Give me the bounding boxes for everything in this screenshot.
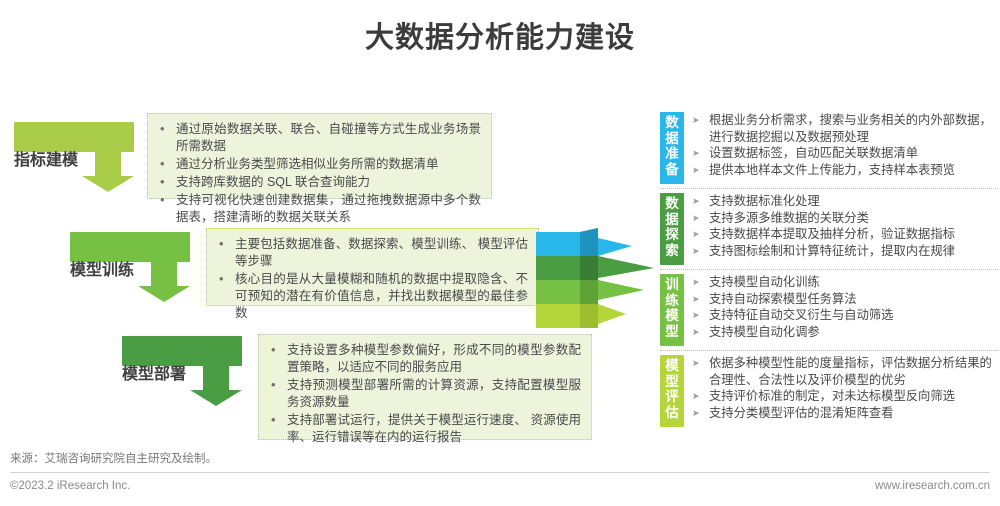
flow-textbox-1-list: 通过原始数据关联、联合、自碰撞等方式生成业务场景所需数据 通过分析业务类型筛选相…: [156, 121, 481, 226]
list-item: 支持数据样本提取及抽样分析，验证数据指标: [692, 226, 998, 243]
list-item: 支持部署试运行，提供关于模型运行速度、 资源使用率、运行错误等在内的运行报告: [267, 412, 581, 446]
flow-arrow-3-head: [190, 390, 242, 406]
flow-textbox-3-list: 支持设置多种模型参数偏好，形成不同的模型参数配置策略，以适应不同的服务应用 支持…: [267, 342, 581, 446]
list-item: 支持评价标准的制定，对未达标模型反向筛选: [692, 388, 998, 405]
flow-arrow-1-stem: [95, 152, 121, 176]
capability-section-model-evaluation: 模型评估 依据多种模型性能的度量指标，评估数据分析结果的合理性、合法性以及评价模…: [660, 355, 998, 427]
tag-char: 数据准备: [660, 115, 684, 177]
capability-body-data-preparation: 根据业务分析需求，搜索与业务相关的内外部数据，进行数据挖掘以及数据预处理 设置数…: [684, 112, 998, 178]
list-item: 支持设置多种模型参数偏好，形成不同的模型参数配置策略，以适应不同的服务应用: [267, 342, 581, 376]
flow-label-3: 模型部署: [122, 360, 186, 384]
list-item: 支持图标绘制和计算特征统计，提取内在规律: [692, 243, 998, 260]
flow-label-2: 模型训练: [70, 256, 134, 280]
flow-textbox-2: 主要包括数据准备、数据探索、模型训练、 模型评估等步骤 核心目的是从大量模糊和随…: [206, 228, 539, 306]
capability-list-2: 支持数据标准化处理 支持多源多维数据的关联分类 支持数据样本提取及抽样分析，验证…: [692, 193, 998, 259]
list-item: 核心目的是从大量模糊和随机的数据中提取隐含、不可预知的潜在有价值信息，并找出数据…: [215, 271, 528, 322]
flow-textbox-1: 通过原始数据关联、联合、自碰撞等方式生成业务场景所需数据 通过分析业务类型筛选相…: [147, 113, 492, 199]
capability-tag-model-training: 训练模型: [660, 274, 684, 346]
flow-label-1: 指标建模: [14, 146, 78, 170]
footer-divider: [10, 472, 990, 473]
list-item: 支持可视化快速创建数据集，通过拖拽数据源中多个数据表，搭建清晰的数据关联关系: [156, 192, 481, 226]
flow-arrow-1-head: [82, 176, 134, 192]
list-item: 支持模型自动化调参: [692, 324, 998, 341]
flow-arrow-2-head: [138, 286, 190, 302]
capability-list-1: 根据业务分析需求，搜索与业务相关的内外部数据，进行数据挖掘以及数据预处理 设置数…: [692, 112, 998, 178]
slide-canvas: 大数据分析能力建设 指标建模 通过原始数据关联、联合、自碰撞等方式生成业务场景所…: [0, 0, 1000, 506]
arrow-layer-cyan: [536, 228, 632, 256]
tag-char: 数据探索: [660, 196, 684, 258]
list-item: 设置数据标签，自动匹配关联数据清单: [692, 145, 998, 162]
list-item: 支持跨库数据的 SQL 联合查询能力: [156, 174, 481, 191]
center-stacked-arrow: [536, 228, 661, 328]
flow-arrow-2-stem: [151, 262, 177, 286]
flow-textbox-2-list: 主要包括数据准备、数据探索、模型训练、 模型评估等步骤 核心目的是从大量模糊和随…: [215, 236, 528, 322]
list-item: 支持预测模型部署所需的计算资源，支持配置模型服务资源数量: [267, 377, 581, 411]
capability-section-data-exploration: 数据探索 支持数据标准化处理 支持多源多维数据的关联分类 支持数据样本提取及抽样…: [660, 193, 998, 265]
capability-list-4: 依据多种模型性能的度量指标，评估数据分析结果的合理性、合法性以及评价模型的优劣 …: [692, 355, 998, 421]
list-item: 支持特征自动交叉衍生与自动筛选: [692, 307, 998, 324]
list-item: 支持分类模型评估的混淆矩阵查看: [692, 405, 998, 422]
capability-list-3: 支持模型自动化训练 支持自动探索模型任务算法 支持特征自动交叉衍生与自动筛选 支…: [692, 274, 998, 340]
capability-panel: 数据准备 根据业务分析需求，搜索与业务相关的内外部数据，进行数据挖掘以及数据预处…: [660, 112, 998, 442]
flow-arrow-3-stem: [203, 366, 229, 390]
capability-tag-data-exploration: 数据探索: [660, 193, 684, 265]
list-item: 通过原始数据关联、联合、自碰撞等方式生成业务场景所需数据: [156, 121, 481, 155]
tag-char: 训练模型: [660, 277, 684, 339]
capability-divider-1: [660, 188, 998, 189]
capability-section-data-preparation: 数据准备 根据业务分析需求，搜索与业务相关的内外部数据，进行数据挖掘以及数据预处…: [660, 112, 998, 184]
list-item: 支持数据标准化处理: [692, 193, 998, 210]
capability-divider-2: [660, 269, 998, 270]
list-item: 支持模型自动化训练: [692, 274, 998, 291]
copyright-text: ©2023.2 iResearch Inc.: [10, 480, 130, 492]
list-item: 通过分析业务类型筛选相似业务所需的数据清单: [156, 156, 481, 173]
list-item: 支持多源多维数据的关联分类: [692, 210, 998, 227]
capability-body-model-training: 支持模型自动化训练 支持自动探索模型任务算法 支持特征自动交叉衍生与自动筛选 支…: [684, 274, 998, 340]
capability-section-model-training: 训练模型 支持模型自动化训练 支持自动探索模型任务算法 支持特征自动交叉衍生与自…: [660, 274, 998, 346]
tag-char: 模型评估: [660, 358, 684, 420]
list-item: 提供本地样本文件上传能力，支持样本表预览: [692, 162, 998, 179]
list-item: 主要包括数据准备、数据探索、模型训练、 模型评估等步骤: [215, 236, 528, 270]
source-note: 来源：艾瑞咨询研究院自主研究及绘制。: [10, 450, 217, 466]
list-item: 依据多种模型性能的度量指标，评估数据分析结果的合理性、合法性以及评价模型的优劣: [692, 355, 998, 388]
center-arrow-svg: [536, 228, 661, 328]
website-link[interactable]: www.iresearch.com.cn: [875, 480, 990, 492]
capability-tag-model-evaluation: 模型评估: [660, 355, 684, 427]
capability-body-data-exploration: 支持数据标准化处理 支持多源多维数据的关联分类 支持数据样本提取及抽样分析，验证…: [684, 193, 998, 259]
capability-tag-data-preparation: 数据准备: [660, 112, 684, 184]
capability-divider-3: [660, 350, 998, 351]
list-item: 根据业务分析需求，搜索与业务相关的内外部数据，进行数据挖掘以及数据预处理: [692, 112, 998, 145]
list-item: 支持自动探索模型任务算法: [692, 291, 998, 308]
flow-textbox-3: 支持设置多种模型参数偏好，形成不同的模型参数配置策略，以适应不同的服务应用 支持…: [258, 334, 592, 440]
capability-body-model-evaluation: 依据多种模型性能的度量指标，评估数据分析结果的合理性、合法性以及评价模型的优劣 …: [684, 355, 998, 421]
page-title: 大数据分析能力建设: [0, 14, 1000, 56]
